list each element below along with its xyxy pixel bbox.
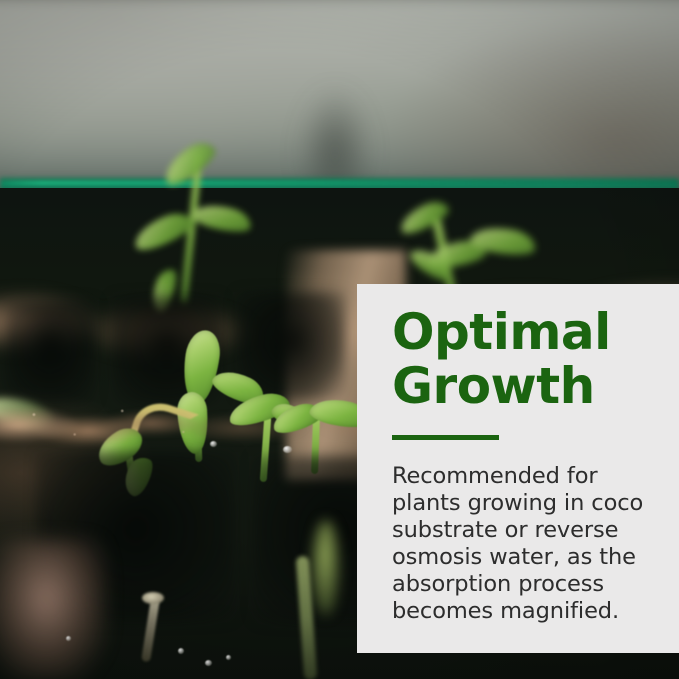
cut-stem-tip [142,592,164,604]
page-title-line-1: Optimal [392,306,655,360]
blurred-leaf-lower-right [312,520,340,616]
water-speck [226,655,231,660]
water-speck [283,446,292,453]
water-speck [66,636,71,641]
title-divider [392,435,499,440]
page-title: Optimal Growth [392,306,655,413]
water-speck [210,441,217,447]
info-panel: Optimal Growth Recommended for plants gr… [357,284,679,653]
water-speck [178,648,184,654]
pot-cavity [4,300,96,404]
panel-description: Recommended for plants growing in coco s… [392,463,655,625]
product-info-card: Optimal Growth Recommended for plants gr… [0,0,679,679]
water-speck [205,660,212,666]
blurred-soil-clump [0,540,106,679]
page-title-line-2: Growth [392,360,655,414]
seed-tray-rim-highlight [0,181,679,185]
